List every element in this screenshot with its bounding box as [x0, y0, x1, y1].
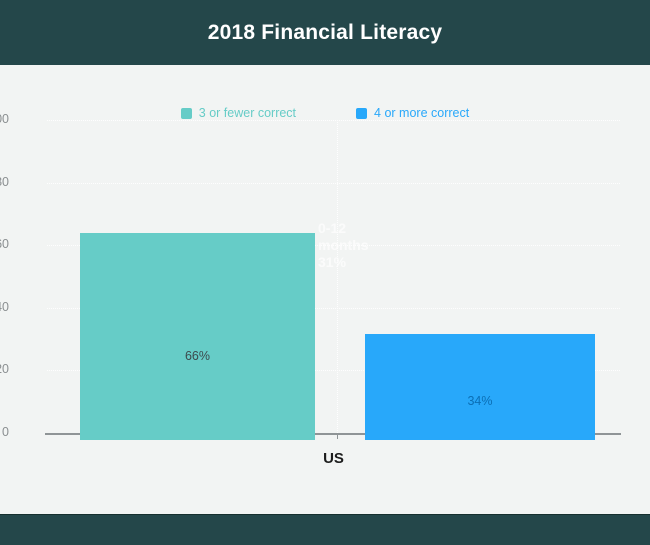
- overlay-ghost-text: 0-12 months 31%: [318, 220, 369, 271]
- x-axis-category-label: US: [47, 450, 620, 467]
- chart-body: 3 or fewer correct 4 or more correct 020…: [0, 65, 650, 514]
- legend-swatch-icon: [356, 108, 367, 119]
- legend-item-0[interactable]: 3 or fewer correct: [181, 106, 296, 120]
- bar-value-label: 66%: [80, 349, 315, 363]
- plot-area: 020406080100 66% 34% US: [47, 120, 620, 440]
- y-axis-tick-label: 80: [0, 175, 9, 189]
- y-axis-tick-label: 0: [0, 425, 9, 439]
- legend-item-1[interactable]: 4 or more correct: [356, 106, 469, 120]
- y-axis-tick-label: 60: [0, 237, 9, 251]
- legend-label: 4 or more correct: [374, 106, 469, 120]
- bar-series-1[interactable]: 34%: [365, 334, 595, 440]
- gridline: [47, 120, 620, 122]
- gridline: [47, 183, 620, 185]
- legend-swatch-icon: [181, 108, 192, 119]
- legend-label: 3 or fewer correct: [199, 106, 296, 120]
- chart-page: 2018 Financial Literacy 3 or fewer corre…: [0, 0, 650, 544]
- page-title: 2018 Financial Literacy: [208, 21, 443, 45]
- bar-series-0[interactable]: 66%: [80, 233, 315, 440]
- y-axis-tick-label: 20: [0, 362, 9, 376]
- y-axis-tick-label: 100: [0, 112, 9, 126]
- x-axis-tick: [337, 433, 338, 439]
- y-axis-tick-label: 40: [0, 300, 9, 314]
- chart-header: 2018 Financial Literacy: [0, 0, 650, 65]
- vertical-gridline: [337, 120, 339, 433]
- bar-value-label: 34%: [365, 394, 595, 408]
- chart-footer: [0, 514, 650, 545]
